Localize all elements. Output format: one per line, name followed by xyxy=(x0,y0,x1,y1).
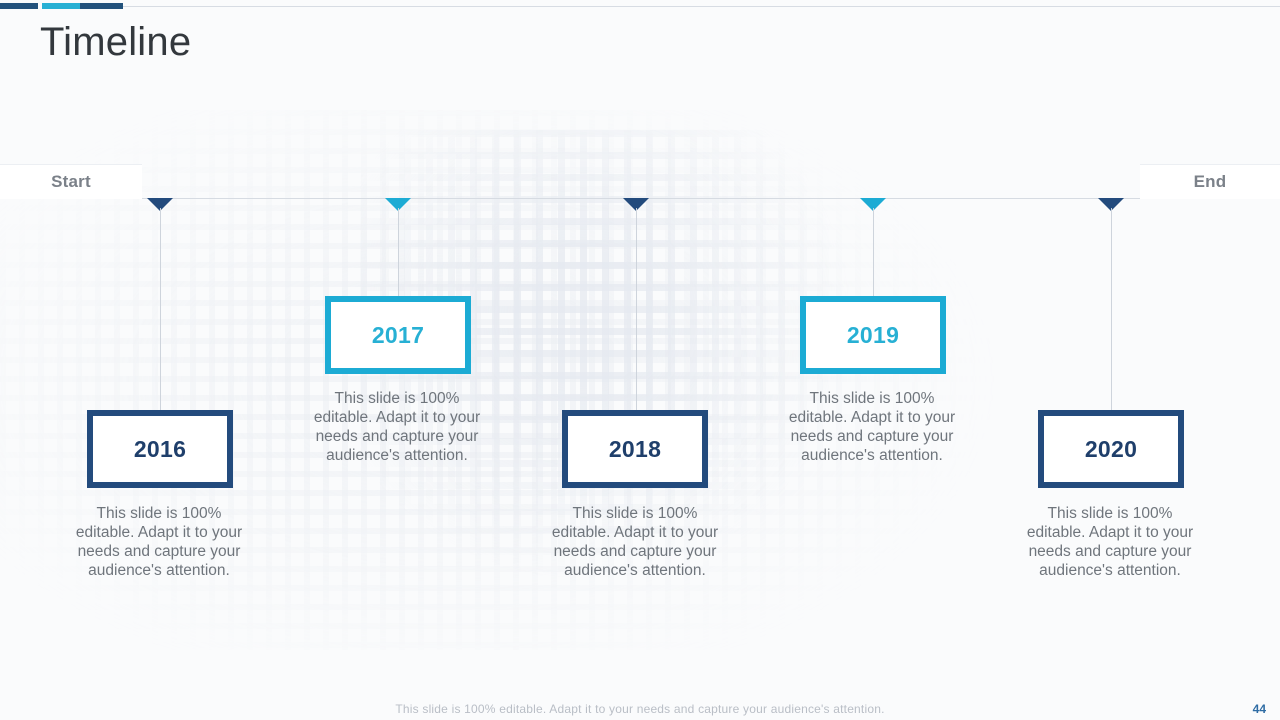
milestone-year-2020: 2020 xyxy=(1085,436,1137,463)
timeline-start-cap: Start xyxy=(0,164,142,199)
accent-segment-navy-left xyxy=(0,3,38,9)
milestone-description-2017: This slide is 100% editable. Adapt it to… xyxy=(304,389,490,465)
milestone-description-2018: This slide is 100% editable. Adapt it to… xyxy=(542,504,728,580)
timeline-end-label: End xyxy=(1194,172,1227,192)
milestone-description-2019: This slide is 100% editable. Adapt it to… xyxy=(779,389,965,465)
page-title: Timeline xyxy=(40,20,191,65)
accent-segment-navy-right xyxy=(80,3,123,9)
milestone-description-2016: This slide is 100% editable. Adapt it to… xyxy=(66,504,252,580)
milestone-box-2016[interactable]: 2016 xyxy=(87,410,233,488)
milestone-year-2017: 2017 xyxy=(372,322,424,349)
milestone-year-2018: 2018 xyxy=(609,436,661,463)
page-number: 44 xyxy=(1253,702,1266,716)
timeline-start-label: Start xyxy=(51,172,91,192)
connector-stem xyxy=(636,208,637,420)
accent-segment-cyan xyxy=(42,3,80,9)
milestone-year-2016: 2016 xyxy=(134,436,186,463)
connector-stem xyxy=(873,208,874,304)
connector-stem xyxy=(160,208,161,420)
timeline-end-cap: End xyxy=(1140,164,1280,199)
milestone-description-2020: This slide is 100% editable. Adapt it to… xyxy=(1017,504,1203,580)
milestone-box-2020[interactable]: 2020 xyxy=(1038,410,1184,488)
milestone-box-2017[interactable]: 2017 xyxy=(325,296,471,374)
accent-hairline xyxy=(123,6,1280,7)
top-accent-rule xyxy=(0,3,1280,9)
connector-stem xyxy=(1111,208,1112,420)
connector-stem xyxy=(398,208,399,304)
milestone-box-2018[interactable]: 2018 xyxy=(562,410,708,488)
footer-note: This slide is 100% editable. Adapt it to… xyxy=(0,702,1280,716)
milestone-box-2019[interactable]: 2019 xyxy=(800,296,946,374)
milestone-year-2019: 2019 xyxy=(847,322,899,349)
